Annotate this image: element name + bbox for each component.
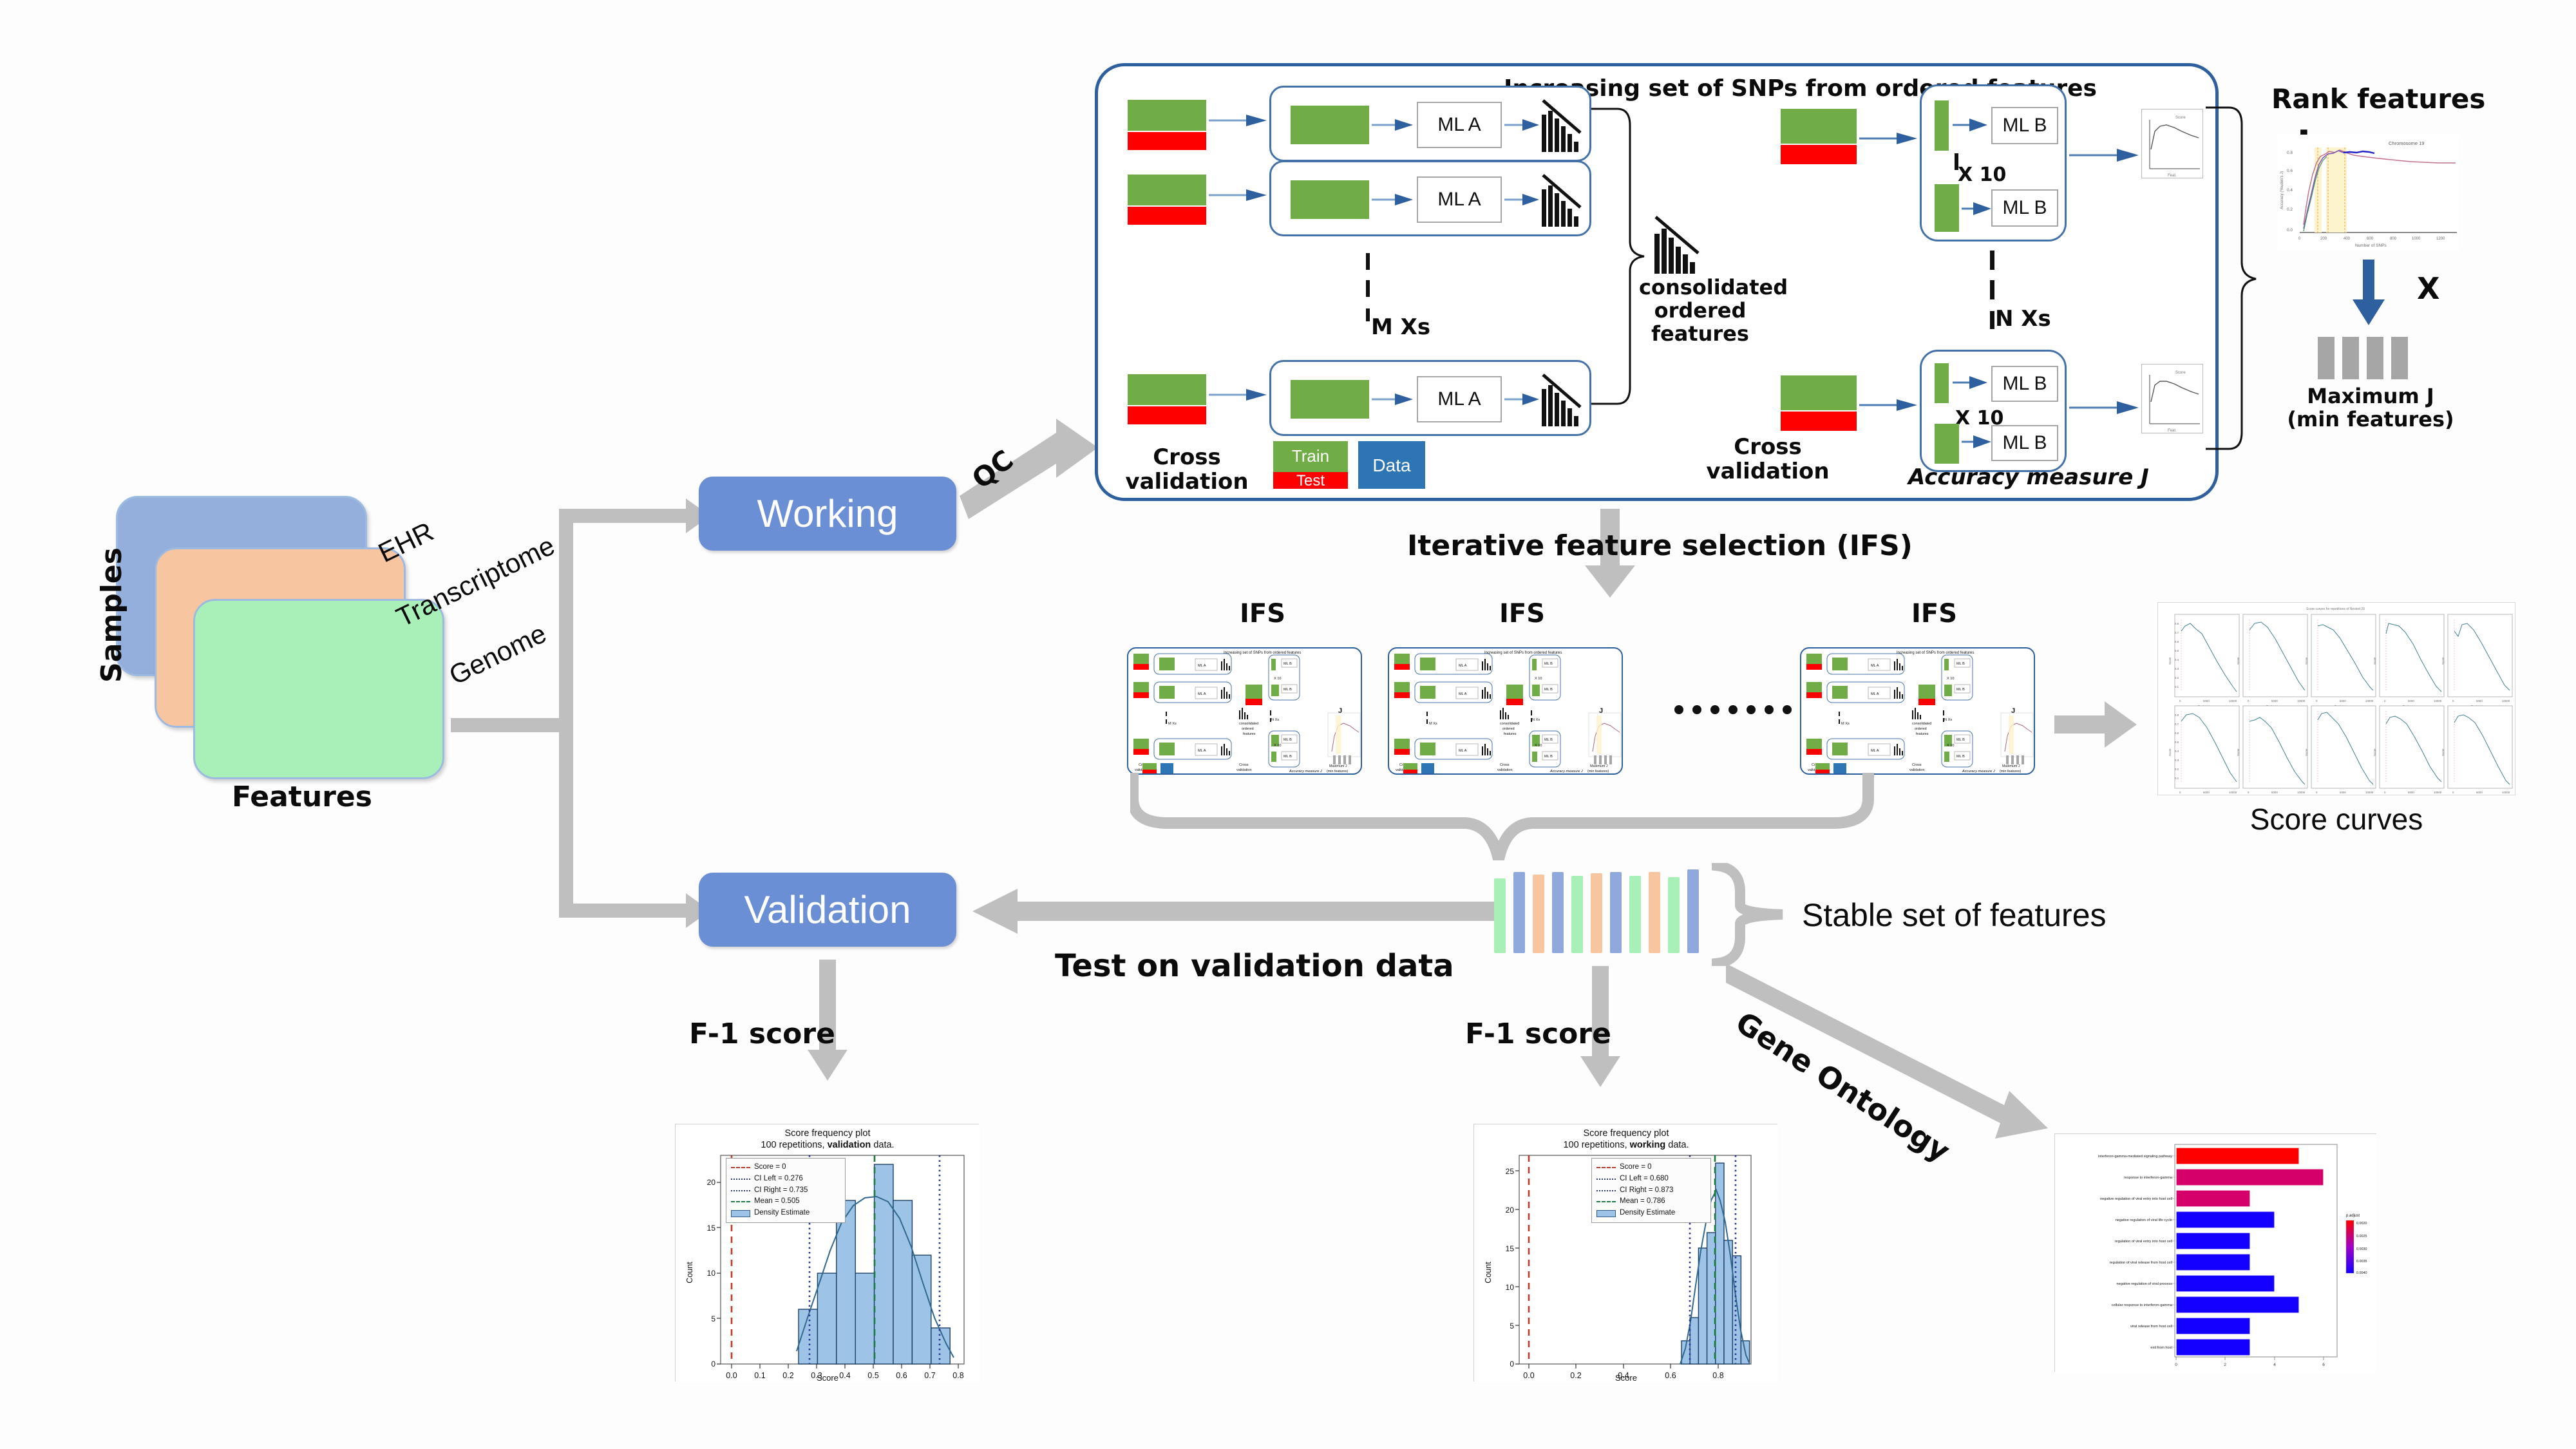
split-arrow-downer (559, 718, 573, 918)
svg-text:0.3: 0.3 (2175, 667, 2179, 670)
svg-text:(min features): (min features) (2000, 770, 2021, 773)
svg-text:Score: Score (2168, 748, 2172, 756)
svg-text:Increasing set of SNPs from or: Increasing set of SNPs from ordered feat… (1224, 651, 1301, 655)
svg-text:features: features (1916, 732, 1929, 736)
stable-feature-bar (1571, 876, 1583, 953)
legend-label: CI Right = 0.735 (754, 1185, 808, 1197)
svg-text:ML B: ML B (1283, 688, 1292, 692)
svg-text:5: 5 (711, 1314, 715, 1323)
svg-text:regulation of viral release fr: regulation of viral release from host ce… (2110, 1261, 2172, 1265)
validation-histogram-panel: Score frequency plot 100 repetitions, va… (675, 1124, 979, 1381)
score-curves-arrow (2054, 699, 2138, 750)
legend-label: Density Estimate (1620, 1207, 1675, 1219)
arrow-mlb-top-out (2069, 147, 2140, 163)
svg-text:regulation of viral entry into: regulation of viral entry into host cell (2115, 1240, 2172, 1244)
ifs-thumbnail[interactable]: ML AML AML A ML BML B ML BML B Increasin… (1388, 647, 1623, 775)
svg-text:10: 10 (707, 1269, 716, 1278)
svg-text:10000: 10000 (2229, 699, 2237, 703)
svg-text:0.2: 0.2 (2175, 676, 2179, 679)
svg-text:0: 0 (2248, 791, 2249, 794)
svg-text:Maximum J: Maximum J (1590, 764, 1608, 768)
svg-text:N Xs: N Xs (1944, 718, 1952, 722)
svg-text:0: 0 (2179, 699, 2181, 703)
arrow-row1-in (1209, 113, 1268, 128)
svg-text:2: 2 (2224, 1363, 2226, 1367)
svg-text:0.0035: 0.0035 (2356, 1260, 2367, 1264)
svg-text:X 10: X 10 (1535, 744, 1542, 748)
legend-data-label: Data (1358, 455, 1425, 476)
svg-text:5000: 5000 (2408, 791, 2414, 794)
svg-text:0: 0 (2384, 791, 2386, 794)
svg-text:response to interferon-gamma: response to interferon-gamma (2124, 1176, 2173, 1180)
svg-text:Maximum J: Maximum J (2002, 764, 2020, 768)
svg-text:Cross: Cross (1500, 763, 1510, 767)
svg-text:10000: 10000 (2502, 699, 2510, 703)
svg-text:0: 0 (2452, 699, 2454, 703)
svg-text:5000: 5000 (2203, 791, 2210, 794)
svg-text:10000: 10000 (2229, 791, 2237, 794)
svg-text:ordered: ordered (1242, 727, 1254, 731)
snp-slice-thin-top (1935, 100, 1949, 151)
svg-text:0: 0 (2175, 1363, 2177, 1367)
data-sources-group: Samples Features EHR Transcriptome Genom… (84, 477, 573, 799)
cv-subbox-row3: ML A (1269, 360, 1591, 436)
arrow-mlb-bottom-out (2069, 400, 2140, 415)
ifs-thumb-label-2: IFS (1499, 599, 1545, 629)
max-j-arrow (2349, 260, 2389, 327)
svg-text:Score: Score (2168, 657, 2172, 665)
rank-features-chart: Chromosome 19 0.80.6 0.40.2 0.0 0200400 … (2278, 135, 2459, 251)
legend-label: CI Left = 0.680 (1620, 1173, 1669, 1185)
ellipsis-dot (1728, 705, 1738, 714)
n-xs-dots (1989, 251, 1996, 350)
svg-text:10000: 10000 (2297, 699, 2306, 703)
ml-a-label-row2: ML A (1437, 189, 1481, 211)
maximum-j-label: Maximum J (2268, 384, 2474, 408)
train-block-inner-row2 (1291, 180, 1369, 219)
svg-text:Score: Score (2175, 116, 2186, 120)
svg-text:10000: 10000 (2434, 791, 2442, 794)
svg-text:5000: 5000 (2271, 791, 2278, 794)
svg-text:10: 10 (1506, 1283, 1515, 1292)
svg-text:10000: 10000 (2502, 791, 2510, 794)
consolidated-line-1: consolidated (1639, 276, 1761, 299)
arrow-mlb-bottom-2 (1962, 434, 1993, 450)
legend-label: Score = 0 (1620, 1162, 1652, 1173)
svg-text:ML A: ML A (1198, 692, 1206, 696)
svg-text:0.0: 0.0 (2287, 228, 2293, 232)
ml-b-box-top: ML B (1991, 107, 2058, 144)
svg-text:0.5: 0.5 (2175, 741, 2179, 744)
svg-text:ML B: ML B (1956, 688, 1965, 692)
cross-validation-caption-right: Cross validation (1703, 435, 1832, 484)
score-curves-block: Score curves for repetitions of Nested-2… (2157, 602, 2518, 860)
score-curves-caption: Score curves (2157, 802, 2515, 837)
svg-text:5000: 5000 (2408, 699, 2414, 703)
consolidated-bars-icon (1653, 213, 1701, 278)
ml-a-label-row1: ML A (1437, 114, 1481, 136)
legend-entry: Mean = 0.505 (731, 1196, 840, 1207)
svg-text:0.0020: 0.0020 (2356, 1222, 2367, 1226)
snp-slice-thin-bottom (1935, 363, 1949, 403)
arrow-mlb-top-1 (1953, 117, 1989, 133)
svg-text:N Xs: N Xs (1532, 718, 1540, 722)
stable-feature-bar (1494, 878, 1506, 953)
rank-features-heading: Rank features (2271, 83, 2485, 115)
arrow-row1-to-ml (1372, 117, 1414, 133)
ifs-thumb-label-1: IFS (1240, 599, 1285, 629)
svg-text:M Xs: M Xs (1168, 722, 1177, 726)
working-legend: Score = 0 CI Left = 0.680 CI Right = 0.8… (1591, 1158, 1711, 1223)
split-arrow-to-working (559, 509, 688, 523)
legend-label: Score = 0 (754, 1162, 786, 1173)
maximum-j-features-group (2315, 337, 2425, 379)
legend-label: Mean = 0.786 (1620, 1196, 1665, 1207)
arrow-mlb-bottom-1 (1953, 375, 1989, 390)
score-curves-svg: Score curves for repetitions of Nested-2… (2158, 603, 2516, 796)
cv-subbox-row1: ML A (1269, 86, 1591, 162)
ellipsis-dot (1674, 705, 1683, 714)
svg-text:0: 0 (2452, 791, 2454, 794)
svg-text:6: 6 (2322, 1363, 2325, 1367)
svg-text:4: 4 (2273, 1363, 2276, 1367)
mlb-subbox-bottom: ML B X 10 ML B (1920, 350, 2067, 472)
svg-text:Chromosome 19: Chromosome 19 (2389, 140, 2424, 146)
svg-text:0.8: 0.8 (2175, 714, 2179, 717)
svg-text:Score: Score (2373, 657, 2376, 665)
cv-right-line-1: Cross (1703, 435, 1832, 459)
svg-text:Score: Score (2305, 748, 2308, 756)
ml-a-box-row3: ML A (1417, 376, 1502, 422)
svg-text:5: 5 (1510, 1321, 1514, 1331)
stage-working-label: Working (757, 491, 898, 536)
mlb-subbox-top: ML B X 10 ML B (1920, 84, 2067, 241)
score-curves-panel: Score curves for repetitions of Nested-2… (2157, 602, 2515, 795)
svg-text:Count: Count (685, 1262, 694, 1283)
ml-b-box-bottom: ML B (1991, 366, 2058, 402)
svg-text:X 10: X 10 (1947, 677, 1955, 681)
legend-swatch-mean (731, 1201, 750, 1202)
x-marker-right: X (2417, 271, 2439, 306)
svg-text:0.4: 0.4 (2175, 750, 2179, 753)
svg-text:ML B: ML B (1956, 662, 1965, 666)
legend-entry: Score = 0 (731, 1162, 840, 1173)
svg-text:400: 400 (2344, 237, 2351, 241)
arrow-row1-to-bars (1504, 117, 1540, 133)
svg-text:Score: Score (2441, 657, 2445, 665)
ifs-thumb-label-3: IFS (1911, 599, 1957, 629)
svg-text:1000: 1000 (2412, 237, 2421, 241)
svg-text:viral release from host cell: viral release from host cell (2130, 1325, 2172, 1329)
ml-b-label-top: ML B (2003, 115, 2047, 137)
test-block-row1 (1128, 132, 1206, 150)
arrow-row3-to-ml (1372, 392, 1414, 407)
svg-text:Number of SNPs: Number of SNPs (2355, 243, 2387, 248)
svg-text:0.5: 0.5 (2175, 649, 2179, 652)
test-block-row2 (1128, 207, 1206, 225)
svg-text:10000: 10000 (2434, 699, 2442, 703)
svg-text:Accuracy measure J: Accuracy measure J (1962, 770, 1995, 773)
svg-text:0.1: 0.1 (2175, 685, 2179, 688)
svg-text:Count: Count (1484, 1262, 1493, 1283)
stage-validation[interactable]: Validation (699, 873, 956, 947)
svg-text:Score curves for repetitions o: Score curves for repetitions of Nested-2… (2306, 607, 2365, 611)
svg-text:ML A: ML A (1871, 692, 1879, 696)
ordered-features-bars-icon-row2 (1540, 171, 1583, 231)
gene-ontology-svg: interferon-gamma-mediated signaling path… (2055, 1134, 2377, 1372)
svg-text:ML A: ML A (1459, 664, 1467, 668)
stable-feature-bar (1629, 876, 1641, 953)
svg-text:X 10: X 10 (1535, 677, 1542, 681)
svg-text:Increasing set of SNPs from or: Increasing set of SNPs from ordered feat… (1484, 651, 1562, 655)
svg-text:ML B: ML B (1956, 755, 1965, 759)
svg-text:5000: 5000 (2203, 699, 2210, 703)
svg-text:5000: 5000 (2340, 791, 2346, 794)
svg-text:800: 800 (2390, 237, 2397, 241)
ml-b-box-top-2: ML B (1991, 189, 2058, 227)
svg-text:10000: 10000 (2297, 791, 2306, 794)
svg-text:Maximum J: Maximum J (1329, 764, 1347, 768)
ellipsis-dot (1692, 705, 1701, 714)
layer-label-genome: Genome (444, 618, 551, 691)
svg-text:features: features (1504, 732, 1517, 736)
accuracy-measure-caption: Accuracy measure J (1908, 464, 2149, 490)
stable-features-group: Stable set of features (1494, 863, 2074, 966)
ordered-features-bars-icon-row1 (1540, 97, 1583, 156)
svg-text:0.2: 0.2 (2287, 207, 2293, 212)
working-xlabel: Score (1474, 1373, 1778, 1383)
svg-text:600: 600 (2367, 237, 2374, 241)
legend-label: Mean = 0.505 (754, 1196, 800, 1207)
ifs-pipeline-box: Increasing set of SNPs from ordered feat… (1095, 63, 2219, 501)
svg-text:ML B: ML B (1544, 755, 1553, 759)
legend-label: CI Left = 0.276 (754, 1173, 803, 1185)
legend-entry: Density Estimate (731, 1207, 840, 1219)
svg-text:X 10: X 10 (1947, 744, 1955, 748)
legend-swatch-density (731, 1210, 750, 1217)
svg-text:ML A: ML A (1198, 749, 1206, 753)
ml-a-label-row3: ML A (1437, 388, 1481, 410)
svg-text:5000: 5000 (2340, 699, 2346, 703)
svg-text:Score frequency plot: Score frequency plot (785, 1128, 871, 1139)
legend-entry: CI Left = 0.680 (1596, 1173, 1706, 1185)
working-histogram-panel: Score frequency plot 100 repetitions, wo… (1473, 1124, 1777, 1381)
svg-text:ML B: ML B (1283, 738, 1292, 742)
stage-validation-label: Validation (744, 887, 911, 932)
ellipsis-dot (1765, 705, 1774, 714)
svg-text:0.7: 0.7 (2175, 631, 2179, 634)
split-arrow-trunk (451, 718, 573, 732)
legend-swatch-mean (1596, 1201, 1616, 1202)
x10-label: X 10 (1958, 164, 2006, 186)
test-on-validation-arrow (972, 889, 1494, 934)
svg-text:0.6: 0.6 (2175, 640, 2179, 643)
svg-text:0: 0 (2384, 699, 2386, 703)
cv-right-line-2: validation (1703, 459, 1832, 484)
stable-features-brace-up (1130, 773, 1890, 863)
svg-text:ordered: ordered (1915, 727, 1927, 731)
svg-text:Score: Score (2237, 748, 2240, 756)
stable-feature-bar (1668, 877, 1680, 953)
svg-text:20: 20 (707, 1178, 716, 1187)
legend-entry: Mean = 0.786 (1596, 1196, 1706, 1207)
arrow-nxs-top-in (1859, 131, 1918, 146)
svg-text:Accuracy (Youden's J): Accuracy (Youden's J) (2280, 171, 2284, 209)
svg-text:5000: 5000 (2271, 699, 2278, 703)
svg-text:M Xs: M Xs (1429, 722, 1437, 726)
ifs-ellipsis (1674, 705, 1797, 718)
selected-feature-block (2391, 337, 2408, 379)
ml-b-label-bottom-2: ML B (2003, 432, 2047, 454)
test-block-row3 (1128, 406, 1206, 424)
rank-features-brace (2203, 105, 2261, 456)
legend-label: CI Right = 0.873 (1620, 1185, 1673, 1197)
arrow-row2-to-bars (1504, 192, 1540, 207)
svg-text:Cross: Cross (1912, 763, 1922, 767)
svg-text:interferon-gamma-mediated sign: interferon-gamma-mediated signaling path… (2098, 1155, 2172, 1159)
svg-text:consolidated: consolidated (1912, 722, 1931, 726)
legend-swatch-ci-right (1596, 1190, 1616, 1191)
ellipsis-dot (1783, 705, 1792, 714)
stable-features-label: Stable set of features (1802, 896, 2107, 934)
svg-text:ordered: ordered (1502, 727, 1515, 731)
svg-text:0.2: 0.2 (2175, 768, 2179, 771)
svg-text:ML A: ML A (1459, 749, 1467, 753)
stable-features-bars (1494, 869, 1674, 953)
nxs-test-block-bottom (1781, 412, 1857, 431)
legend-swatch-score-zero (731, 1167, 750, 1168)
svg-text:0.1: 0.1 (2175, 777, 2179, 780)
svg-text:15: 15 (1506, 1244, 1515, 1253)
split-arrow-riser (559, 509, 573, 732)
legend-swatch-density (1596, 1210, 1616, 1217)
svg-text:M Xs: M Xs (1841, 722, 1850, 726)
svg-text:N Xs: N Xs (1271, 718, 1279, 722)
train-block-row1 (1128, 100, 1206, 131)
svg-text:20: 20 (1506, 1206, 1515, 1215)
consolidated-line-2: ordered (1639, 299, 1761, 323)
svg-text:0.8: 0.8 (2287, 151, 2293, 155)
ifs-thumbnail[interactable]: ML AML AML A ML BML B ML BML B Increasin… (1800, 647, 2035, 775)
svg-text:Feat.: Feat. (2168, 429, 2177, 433)
legend-entry: Density Estimate (1596, 1207, 1706, 1219)
svg-text:ML A: ML A (1871, 749, 1879, 753)
consolidate-brace (1587, 105, 1649, 411)
svg-text:ML A: ML A (1459, 692, 1467, 696)
svg-text:Score: Score (2373, 748, 2376, 756)
svg-text:0.0030: 0.0030 (2356, 1247, 2367, 1251)
stable-feature-bar (1513, 872, 1525, 953)
validation-xlabel: Score (676, 1373, 980, 1383)
svg-text:ML B: ML B (1283, 755, 1292, 759)
svg-text:Score frequency plot: Score frequency plot (1584, 1128, 1669, 1139)
svg-text:Score: Score (2175, 371, 2186, 375)
svg-text:negative regulation of viral e: negative regulation of viral entry into … (2100, 1197, 2172, 1201)
svg-text:Score: Score (2305, 657, 2308, 665)
svg-text:0: 0 (2298, 237, 2301, 241)
svg-text:0: 0 (2179, 791, 2181, 794)
snp-slice-wide-bottom (1935, 424, 1959, 464)
legend-test-label: Test (1273, 472, 1348, 490)
svg-text:ML B: ML B (1544, 688, 1553, 692)
svg-text:0.3: 0.3 (2175, 759, 2179, 762)
svg-text:consolidated: consolidated (1500, 722, 1519, 726)
svg-text:negative regulation of viral p: negative regulation of viral process (2117, 1282, 2173, 1286)
nxs-score-thumb-top: Score Feat. (2141, 109, 2203, 178)
svg-text:200: 200 (2320, 237, 2327, 241)
svg-text:X 10: X 10 (1274, 677, 1282, 681)
stage-working[interactable]: Working (699, 477, 956, 551)
maximum-j-caption: Maximum J (min features) (2268, 384, 2474, 431)
legend-label: Density Estimate (754, 1207, 810, 1219)
layer-label-ehr: EHR (374, 516, 439, 569)
ml-a-box-row2: ML A (1417, 176, 1502, 223)
svg-text:ML B: ML B (1544, 738, 1553, 742)
svg-text:100 repetitions, working data.: 100 repetitions, working data. (1563, 1140, 1689, 1150)
svg-text:5000: 5000 (2476, 791, 2483, 794)
svg-text:Increasing set of SNPs from or: Increasing set of SNPs from ordered feat… (1897, 651, 1974, 655)
svg-text:validation: validation (1497, 768, 1513, 772)
cv-subbox-row2: ML A (1269, 160, 1591, 236)
arrow-mlb-top-2 (1962, 201, 1993, 216)
svg-text:25: 25 (1506, 1167, 1515, 1176)
cv-left-line-1: Cross (1122, 445, 1251, 469)
ifs-thumbnail[interactable]: ML AML AML A ML BML B ML BML B Increasin… (1127, 647, 1362, 775)
stable-feature-bar (1610, 872, 1622, 953)
ml-b-box-bottom-2: ML B (1991, 425, 2058, 461)
svg-text:X 10: X 10 (1274, 744, 1282, 748)
stable-feature-bar (1552, 872, 1564, 953)
stable-feature-bar (1591, 873, 1602, 953)
legend-entry: Score = 0 (1596, 1162, 1706, 1173)
snp-slice-wide-top (1935, 184, 1959, 232)
stable-feature-bar (1649, 872, 1660, 953)
m-xs-label: M Xs (1371, 314, 1430, 340)
selected-feature-block (2367, 337, 2383, 379)
svg-text:5000: 5000 (2476, 699, 2483, 703)
svg-text:validation: validation (1236, 768, 1252, 772)
svg-text:0: 0 (2248, 699, 2249, 703)
ml-b-label-bottom: ML B (2003, 373, 2047, 395)
svg-text:0.8: 0.8 (2175, 622, 2179, 625)
f1-mid-label: F-1 score (1465, 1018, 1611, 1050)
svg-text:Score: Score (2237, 657, 2240, 665)
ifs-repetitions-row: IFS (1121, 599, 2035, 792)
ifs-edge-label: Iterative feature selection (IFS) (1407, 529, 1913, 562)
cross-validation-caption-left: Cross validation (1122, 445, 1251, 494)
svg-text:10000: 10000 (2365, 791, 2374, 794)
train-block-inner-row1 (1291, 106, 1369, 144)
arrow-row2-in (1209, 187, 1268, 203)
svg-text:0.0040: 0.0040 (2356, 1271, 2367, 1275)
svg-text:0: 0 (2316, 699, 2318, 703)
svg-text:ML B: ML B (1283, 662, 1292, 666)
train-block-inner-row3 (1291, 380, 1369, 419)
test-on-validation-label: Test on validation data (1055, 948, 1454, 984)
legend-swatch-ci-left (731, 1179, 750, 1180)
ml-b-label-top-2: ML B (2003, 197, 2047, 219)
selected-feature-block (2342, 337, 2359, 379)
svg-text:p.adjust: p.adjust (2346, 1214, 2360, 1218)
svg-text:cellular response to interfero: cellular response to interferon-gamma (2112, 1303, 2173, 1307)
ellipsis-dot (1710, 705, 1719, 714)
svg-text:0.6: 0.6 (2175, 732, 2179, 735)
gene-ontology-panel: interferon-gamma-mediated signaling path… (2054, 1133, 2376, 1372)
nxs-train-block-top (1781, 109, 1857, 144)
svg-text:0: 0 (2316, 791, 2318, 794)
f1-left-label: F-1 score (689, 1018, 835, 1050)
svg-text:0.6: 0.6 (2287, 169, 2293, 173)
